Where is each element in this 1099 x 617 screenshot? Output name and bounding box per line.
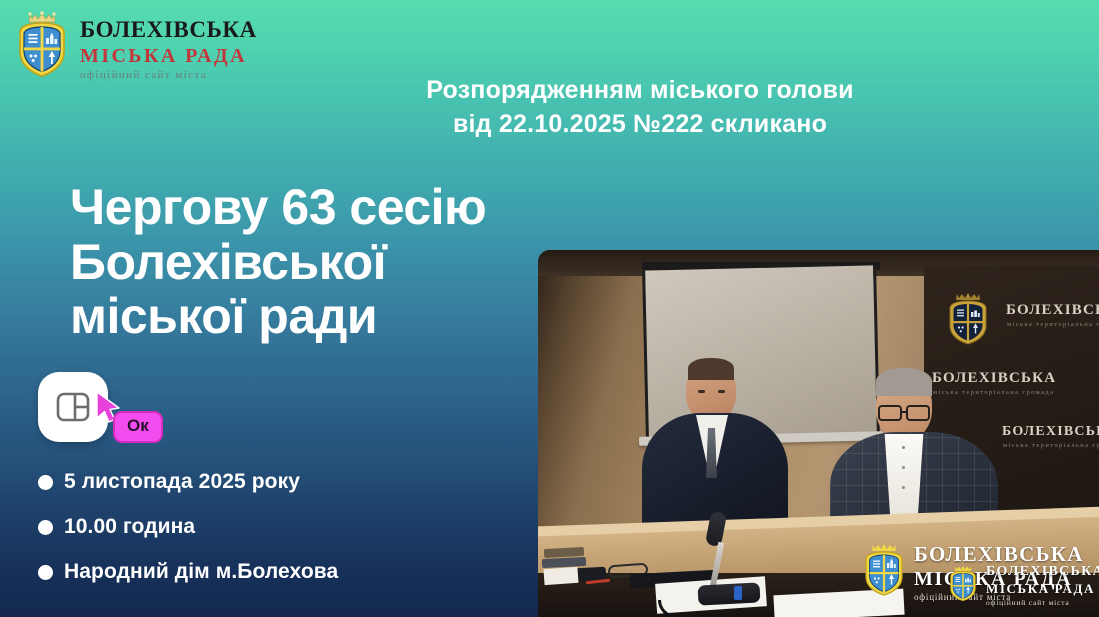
paper-sheet: [543, 567, 578, 585]
site-logo[interactable]: БОЛЕХІВСЬКА МІСЬКА РАДА офіційний сайт м…: [14, 6, 257, 81]
shirt-button: [902, 446, 905, 449]
watermark-line-2: МІСЬКА РАДА: [986, 581, 1099, 597]
coat-of-arms-icon: [948, 563, 978, 608]
brand-wordmark: БОЛЕХІВСЬКА МІСЬКА РАДА офіційний сайт м…: [80, 6, 257, 81]
page-title: Чергову 63 сесію Болехівської міської ра…: [70, 180, 486, 344]
list-item-label: 5 листопада 2025 року: [64, 470, 300, 494]
event-details-list: 5 листопада 2025 року 10.00 година Народ…: [38, 470, 338, 584]
headline-line-3: міської ради: [70, 289, 486, 344]
person-eye: [698, 390, 705, 393]
projector-screen: [642, 265, 880, 440]
person-glasses-bridge: [901, 411, 907, 413]
person-hair: [688, 358, 734, 380]
brand-line-2: МІСЬКА РАДА: [80, 44, 257, 68]
brand-tagline: офіційний сайт міста: [80, 69, 257, 81]
list-item-label: Народний дім м.Болехова: [64, 560, 338, 584]
list-item: 10.00 година: [38, 515, 338, 539]
banner-subtitle: міська територіальна громада: [1007, 321, 1099, 328]
person-glasses: [878, 405, 902, 421]
notice-line-2: від 22.10.2025 №222 скликано: [330, 108, 950, 142]
microphone-indicator: [734, 586, 742, 600]
person-hair: [876, 368, 932, 396]
headline-line-2: Болехівської: [70, 235, 486, 290]
coat-of-arms-icon: [946, 288, 990, 353]
coat-of-arms-icon: [862, 540, 906, 603]
banner-title: БОЛЕХІВСЬКА: [1002, 424, 1099, 440]
list-item: 5 листопада 2025 року: [38, 470, 338, 494]
shirt-button: [902, 466, 905, 469]
microphone-cable: [658, 600, 728, 617]
shirt-button: [902, 486, 905, 489]
bullet-dot-icon: [38, 520, 53, 535]
watermark-line-1: БОЛЕХІВСЬКА: [986, 564, 1099, 580]
person-eye: [718, 390, 725, 393]
bullet-dot-icon: [38, 475, 53, 490]
ok-button[interactable]: Ок: [113, 411, 163, 443]
list-item-label: 10.00 година: [64, 515, 195, 539]
notice-line-1: Розпорядженням міського голови: [330, 74, 950, 108]
coat-of-arms-icon: [14, 6, 70, 80]
banner-title: БОЛЕХІВСЬКА: [1006, 302, 1099, 319]
watermark-line-3: офіційний сайт міста: [986, 598, 1099, 607]
poster-canvas: БОЛЕХІВСЬКА МІСЬКА РАДА офіційний сайт м…: [0, 0, 1099, 617]
bullet-dot-icon: [38, 565, 53, 580]
brand-line-1: БОЛЕХІВСЬКА: [80, 18, 257, 42]
banner-subtitle: міська територіальна громада: [933, 389, 1054, 396]
banner-subtitle: міська територіальна громада: [1003, 442, 1099, 449]
person-glasses: [906, 405, 930, 421]
list-item: Народний дім м.Болехова: [38, 560, 338, 584]
banner-title: БОЛЕХІВСЬКА: [932, 370, 1056, 387]
layout-panel-icon: [56, 392, 90, 422]
notice-text: Розпорядженням міського голови від 22.10…: [330, 74, 950, 142]
watermark-small: БОЛЕХІВСЬКА МІСЬКА РАДА офіційний сайт м…: [948, 563, 1099, 608]
headline-line-1: Чергову 63 сесію: [70, 180, 486, 235]
